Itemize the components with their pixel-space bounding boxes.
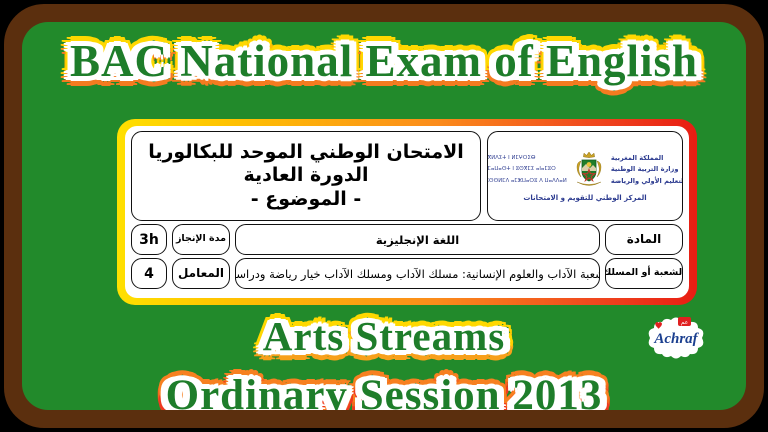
- headline-bottom: Ordinary Session 2013: [22, 374, 746, 410]
- ministry-footer-line: المركز الوطني للتقويم و الامتحانات: [523, 194, 646, 202]
- morocco-coat-of-arms-icon: [572, 150, 606, 190]
- table-row: المادة اللغة الإنجليزية مدة الإنجاز 3h: [131, 224, 683, 255]
- row-2-label-text: الشعبة أو المسلك: [605, 268, 683, 279]
- svg-text:عم: عم: [681, 319, 689, 326]
- row-1-value-duration: 3h: [131, 224, 167, 255]
- row-2-value-stream: شعبة الآداب والعلوم الإنسانية: مسلك الآد…: [235, 258, 600, 289]
- ministry-tifinagh-line-3: ⴷ ⵓⵙⵙⵍⵎⴷ ⴰⵎⵣⵡⴰⵔⵓ ⴷ ⵡⴰⴷⴷⴰⵍ: [487, 176, 567, 188]
- ministry-arabic-line-1: المملكة المغربية: [611, 153, 664, 165]
- poster-root: BAC National Exam of English Arts Stream…: [0, 0, 768, 432]
- exam-title-line3: - الموضوع -: [251, 188, 362, 211]
- row-1-label-subject: المادة: [605, 224, 683, 255]
- row-1-label-duration: مدة الإنجاز: [172, 224, 230, 255]
- row-2-value-coefficient-text: 4: [144, 266, 154, 282]
- exam-title-box: الامتحان الوطني الموحد للبكالوريا الدورة…: [131, 131, 481, 221]
- row-1-value-text: اللغة الإنجليزية: [376, 233, 459, 247]
- row-2-label-coefficient: المعامل: [172, 258, 230, 289]
- ministry-arabic-column: المملكة المغربية وزارة التربية الوطنية و…: [611, 153, 683, 188]
- row-1-value-duration-text: 3h: [139, 232, 159, 248]
- poster-green-background: BAC National Exam of English Arts Stream…: [22, 22, 746, 410]
- row-1-label-text: المادة: [627, 233, 661, 246]
- row-1-value-subject: اللغة الإنجليزية: [235, 224, 600, 255]
- row-2-value-coefficient: 4: [131, 258, 167, 289]
- ministry-tifinagh-line-2: ⵜⴰⵎⴰⵡⴰⵙⵜ ⵏ ⵓⵙⴳⵎⵉ ⴰⵏⴰⵎⵓⵔ: [487, 164, 556, 176]
- row-2-label-coefficient-text: المعامل: [178, 267, 224, 280]
- achraf-brand-text: Achraf: [653, 331, 699, 347]
- headline-middle: Arts Streams: [22, 316, 746, 357]
- exam-paper-header-strip: الامتحان الوطني الموحد للبكالوريا الدورة…: [131, 131, 683, 221]
- row-1-label-duration-text: مدة الإنجاز: [176, 234, 226, 245]
- table-row: الشعبة أو المسلك شعبة الآداب والعلوم الإ…: [131, 258, 683, 289]
- ministry-header-box: ⵜⴰⴳⵍⴷⵉⵜ ⵏ ⵍⵎⵖⵔⵉⴱ ⵜⴰⵎⴰⵡⴰⵙⵜ ⵏ ⵓⵙⴳⵎⵉ ⴰⵏⴰⵎⵓⵔ…: [487, 131, 683, 221]
- ministry-rows: ⵜⴰⴳⵍⴷⵉⵜ ⵏ ⵍⵎⵖⵔⵉⴱ ⵜⴰⵎⴰⵡⴰⵙⵜ ⵏ ⵓⵙⴳⵎⵉ ⴰⵏⴰⵎⵓⵔ…: [493, 150, 677, 190]
- ministry-arabic-line-2: وزارة التربية الوطنية: [611, 164, 679, 176]
- exam-paper-card: الامتحان الوطني الموحد للبكالوريا الدورة…: [117, 119, 697, 305]
- row-2-label-stream: الشعبة أو المسلك: [605, 258, 683, 289]
- exam-title-line2: الدورة العادية: [243, 164, 368, 187]
- ministry-tifinagh-column: ⵜⴰⴳⵍⴷⵉⵜ ⵏ ⵍⵎⵖⵔⵉⴱ ⵜⴰⵎⴰⵡⴰⵙⵜ ⵏ ⵓⵙⴳⵎⵉ ⴰⵏⴰⵎⵓⵔ…: [487, 153, 567, 188]
- exam-paper-inner: الامتحان الوطني الموحد للبكالوريا الدورة…: [125, 126, 689, 298]
- ministry-tifinagh-line-1: ⵜⴰⴳⵍⴷⵉⵜ ⵏ ⵍⵎⵖⵔⵉⴱ: [487, 153, 536, 165]
- exam-title-line1: الامتحان الوطني الموحد للبكالوريا: [148, 141, 464, 164]
- achraf-watermark-logo: عم Achraf: [642, 312, 712, 360]
- ministry-arabic-line-3: والتعليم الأولي والرياضة: [611, 176, 683, 188]
- headline-top: BAC National Exam of English: [22, 39, 746, 84]
- row-2-value-text: شعبة الآداب والعلوم الإنسانية: مسلك الآد…: [235, 267, 600, 281]
